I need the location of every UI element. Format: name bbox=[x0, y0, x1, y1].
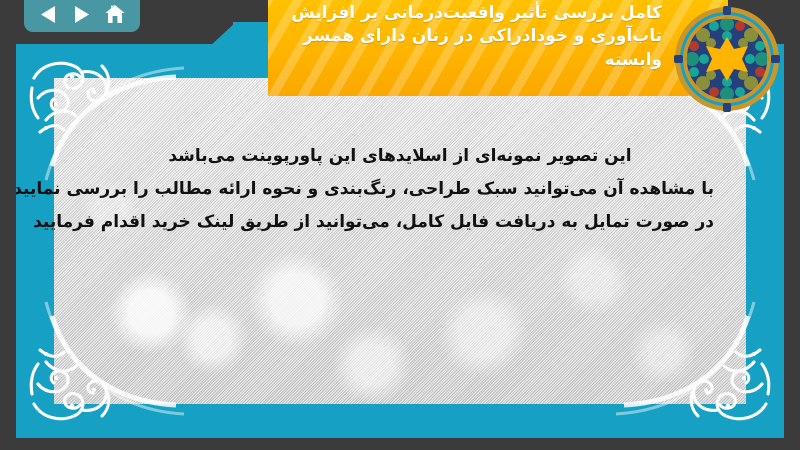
presentation-viewer: این تصویر نمونه‌ای از اسلایدهای این پاور… bbox=[0, 0, 800, 450]
body-line: این تصویر نمونه‌ای از اسلایدهای این پاور… bbox=[86, 140, 714, 173]
body-line: با مشاهده آن می‌توانید سبک طراحی، رنگ‌بن… bbox=[86, 173, 714, 206]
page-title: کامل بررسی تأثیر واقعیت‌درمانی بر افزایش… bbox=[291, 2, 662, 72]
previous-slide-button[interactable] bbox=[35, 1, 63, 27]
body-line: در صورت تمایل به دریافت فایل کامل، می‌تو… bbox=[86, 206, 714, 239]
next-slide-button[interactable] bbox=[68, 1, 96, 27]
triangle-left-icon bbox=[40, 5, 57, 24]
slide-canvas: این تصویر نمونه‌ای از اسلایدهای این پاور… bbox=[16, 44, 784, 438]
slide-content-area bbox=[54, 78, 746, 404]
islamic-star-medallion-icon bbox=[672, 4, 782, 114]
triangle-right-icon bbox=[73, 5, 90, 24]
slide-title-banner: کامل بررسی تأثیر واقعیت‌درمانی بر افزایش… bbox=[208, 0, 728, 96]
navigation-toolbar bbox=[24, 0, 140, 32]
home-icon bbox=[104, 4, 126, 25]
banner-arrow-tail bbox=[208, 22, 236, 74]
home-button[interactable] bbox=[101, 1, 129, 27]
banner-body: کامل بررسی تأثیر واقعیت‌درمانی بر افزایش… bbox=[268, 0, 728, 96]
slide-body-text: این تصویر نمونه‌ای از اسلایدهای این پاور… bbox=[86, 140, 714, 239]
